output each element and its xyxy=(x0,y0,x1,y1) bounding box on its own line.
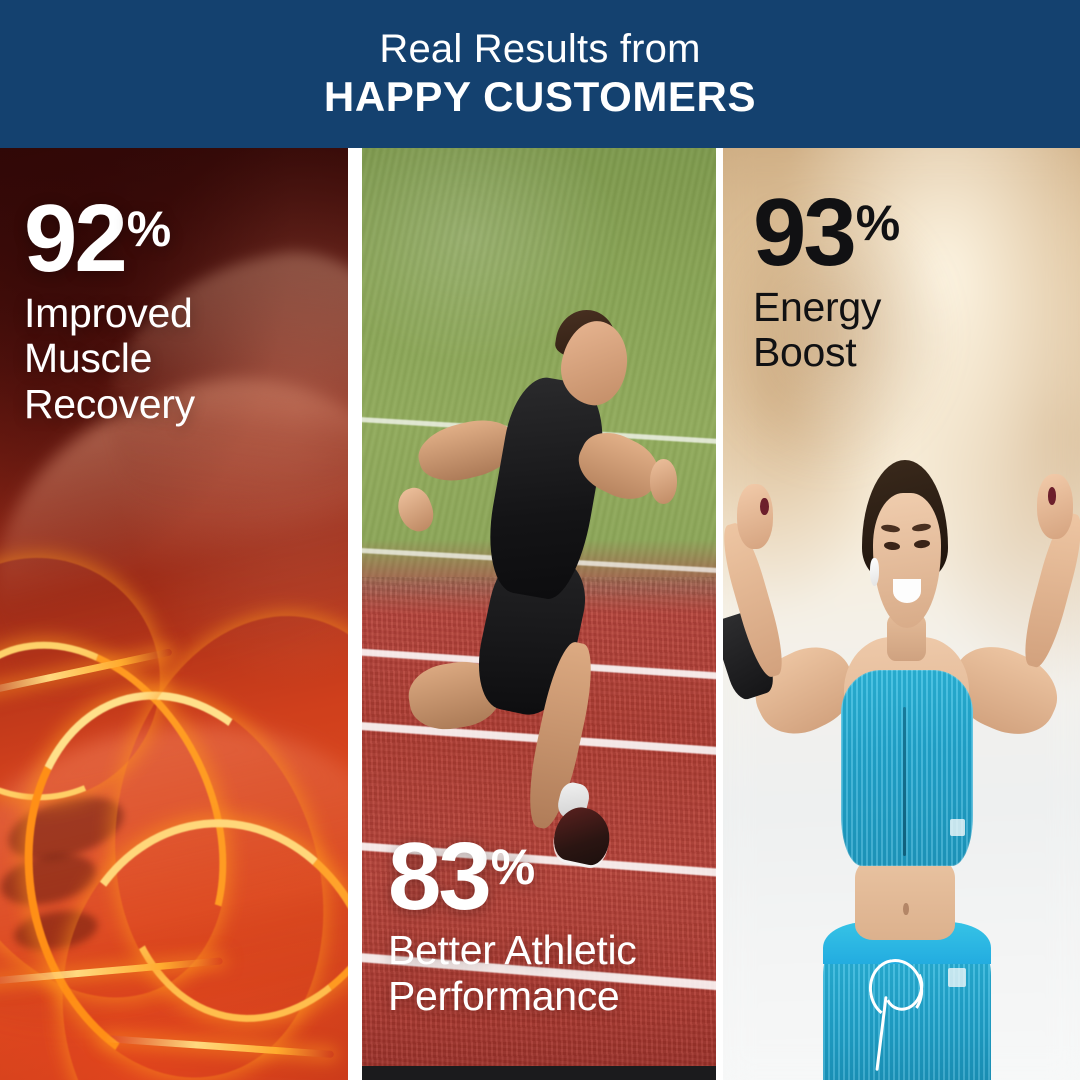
stat-number: 83 xyxy=(388,836,489,919)
percent-sign: % xyxy=(127,204,170,254)
percent-sign: % xyxy=(491,842,534,892)
woman-midriff xyxy=(855,856,955,940)
stat-value-row: 92 % xyxy=(24,198,195,281)
stat-panels-row: 92 % Improved Muscle Recovery xyxy=(0,148,1080,1080)
navel-detail xyxy=(903,903,908,915)
stat-label-line1: Improved xyxy=(24,291,195,337)
stat-label-line2: Boost xyxy=(753,330,899,376)
stat-panel-better-athletic-performance[interactable]: 83 % Better Athletic Performance xyxy=(362,148,716,1080)
stat-panel-energy-boost[interactable]: 93 % Energy Boost xyxy=(723,148,1080,1080)
stat-block-athletic-performance: 83 % Better Athletic Performance xyxy=(388,836,636,1020)
stat-block-energy-boost: 93 % Energy Boost xyxy=(753,192,899,376)
header-banner: Real Results from HAPPY CUSTOMERS xyxy=(0,0,1080,148)
woman-right-fist xyxy=(1037,474,1073,539)
sports-bra-rib-texture xyxy=(841,670,973,866)
stat-label-line1: Energy xyxy=(753,285,899,331)
smile-teeth xyxy=(893,579,922,603)
runner-torso-tank-top xyxy=(478,372,612,604)
nail-polish-detail xyxy=(760,498,769,516)
woman-left-fist xyxy=(737,484,773,549)
runner-front-fist xyxy=(650,459,678,504)
stat-label-line1: Better Athletic xyxy=(388,928,636,974)
reflective-tag-bra xyxy=(950,819,966,836)
header-title-line1: Real Results from xyxy=(379,28,700,71)
stat-number: 92 xyxy=(24,198,125,281)
runner-back-hand xyxy=(392,484,438,536)
cyan-sports-bra xyxy=(841,670,973,866)
stat-label-line3: Recovery xyxy=(24,382,195,428)
stat-label-line2: Muscle xyxy=(24,336,195,382)
header-title-line2: HAPPY CUSTOMERS xyxy=(324,74,756,120)
results-infographic: Real Results from HAPPY CUSTOMERS xyxy=(0,0,1080,1080)
stat-panel-improved-muscle-recovery[interactable]: 92 % Improved Muscle Recovery xyxy=(0,148,348,1080)
sports-bra-zipper xyxy=(903,707,907,856)
panel-bottom-bar xyxy=(362,1066,716,1080)
percent-sign: % xyxy=(856,198,899,248)
reflective-tag-leggings xyxy=(948,968,966,987)
stat-value-row: 93 % xyxy=(753,192,899,275)
stat-value-row: 83 % xyxy=(388,836,636,919)
stat-block-muscle-recovery: 92 % Improved Muscle Recovery xyxy=(24,198,195,428)
stat-number: 93 xyxy=(753,192,854,275)
stat-label-line2: Performance xyxy=(388,974,636,1020)
